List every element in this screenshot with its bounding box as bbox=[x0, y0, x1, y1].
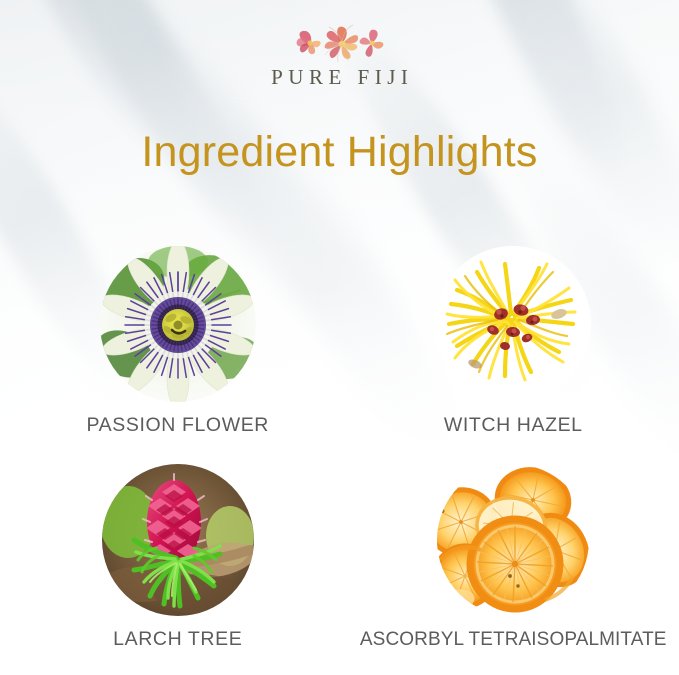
ingredient-card-ascorbyl-tetraisopalmitate[interactable]: ASCORBYL TETRAISOPALMITATE bbox=[344, 464, 679, 650]
passion-flower-photo bbox=[100, 246, 256, 402]
ingredient-grid: PASSION FLOWER bbox=[0, 246, 679, 649]
witch-hazel-photo bbox=[435, 246, 591, 402]
ingredient-label: LARCH TREE bbox=[113, 630, 242, 650]
ingredient-row-1: PASSION FLOWER bbox=[0, 246, 679, 436]
brand-logo: PURE FIJI bbox=[0, 22, 679, 88]
orange-slices-photo bbox=[437, 464, 589, 616]
orange-slices-image bbox=[437, 464, 589, 616]
passion-flower-image bbox=[100, 246, 256, 402]
larch-tree-image bbox=[102, 464, 254, 616]
ingredient-label: WITCH HAZEL bbox=[444, 416, 583, 436]
ingredient-label: ASCORBYL TETRAISOPALMITATE bbox=[360, 630, 667, 649]
ingredient-card-witch-hazel[interactable]: WITCH HAZEL bbox=[344, 246, 679, 436]
page-title: Ingredient Highlights bbox=[0, 128, 679, 176]
witch-hazel-image bbox=[435, 246, 591, 402]
ingredient-row-2: LARCH TREE bbox=[0, 464, 679, 650]
ingredient-highlights-panel: PURE FIJI Ingredient Highlights bbox=[0, 0, 679, 675]
ingredient-label: PASSION FLOWER bbox=[87, 416, 269, 436]
brand-wordmark: PURE FIJI bbox=[0, 67, 679, 88]
ingredient-card-passion-flower[interactable]: PASSION FLOWER bbox=[0, 246, 344, 436]
ingredient-card-larch-tree[interactable]: LARCH TREE bbox=[0, 464, 344, 650]
larch-tree-cone-photo bbox=[102, 464, 254, 616]
hibiscus-flower-icon bbox=[285, 22, 395, 64]
